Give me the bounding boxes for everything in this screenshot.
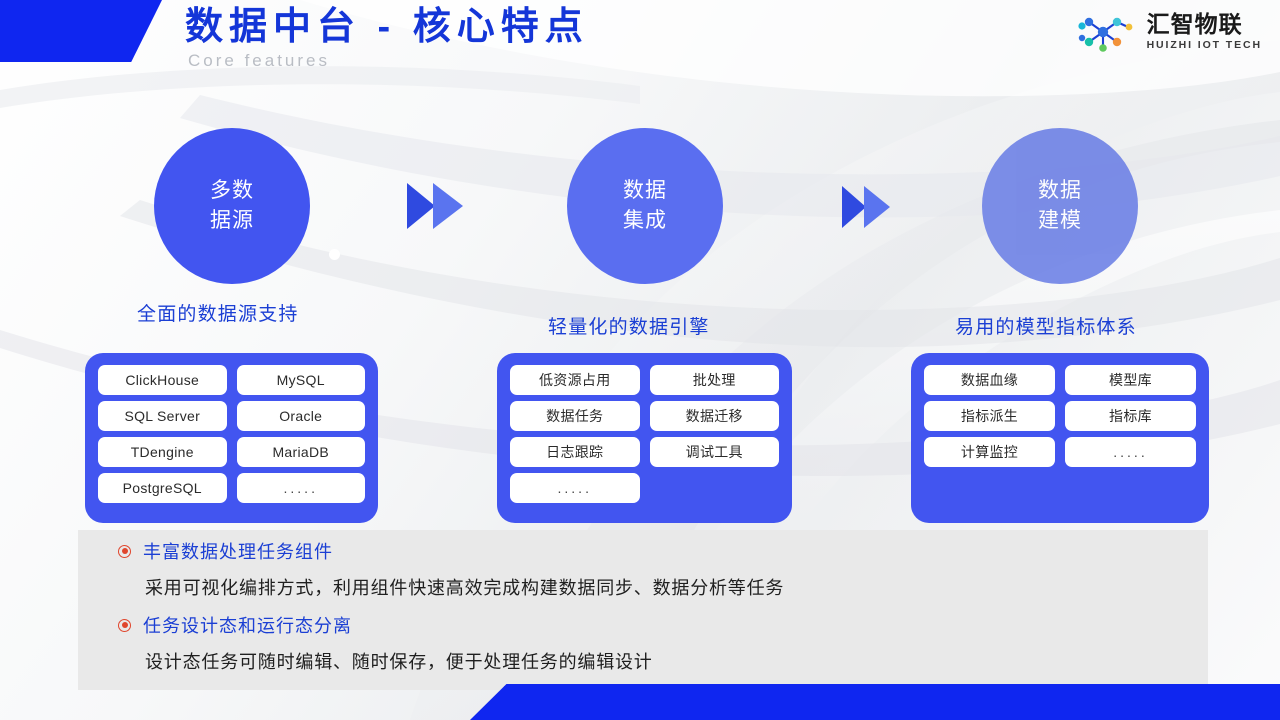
stage-circle-2-line1: 数据 [623, 176, 667, 206]
note-2-heading: 任务设计态和运行态分离 [118, 612, 653, 638]
arrow-stage2-to-stage3-icon [842, 184, 898, 230]
bullet-ring-icon [118, 619, 131, 632]
slide-root: 数据中台 - 核心特点 Core features 汇智物联 [0, 0, 1280, 720]
tag-grid-3: 数据血缘 模型库 指标派生 指标库 计算监控 ..... [924, 365, 1196, 467]
tag-item[interactable]: 数据任务 [510, 401, 640, 431]
tag-item[interactable]: 计算监控 [924, 437, 1055, 467]
tag-item[interactable]: 日志跟踪 [510, 437, 640, 467]
stage-tag-panel-2: 低资源占用 批处理 数据任务 数据迁移 日志跟踪 调试工具 ..... [497, 353, 792, 523]
tag-item[interactable]: ClickHouse [98, 365, 227, 395]
tag-placeholder [650, 473, 780, 503]
note-1-title: 丰富数据处理任务组件 [143, 538, 333, 564]
note-1-heading: 丰富数据处理任务组件 [118, 538, 784, 564]
decorative-dot [329, 249, 340, 260]
tag-item[interactable]: 模型库 [1065, 365, 1196, 395]
note-1-description: 采用可视化编排方式，利用组件快速高效完成构建数据同步、数据分析等任务 [145, 574, 784, 600]
note-item-1: 丰富数据处理任务组件 采用可视化编排方式，利用组件快速高效完成构建数据同步、数据… [118, 538, 784, 600]
stage-circle-2-line2: 集成 [623, 206, 667, 236]
note-2-title: 任务设计态和运行态分离 [143, 612, 352, 638]
note-item-2: 任务设计态和运行态分离 设计态任务可随时编辑、随时保存，便于处理任务的编辑设计 [118, 612, 653, 674]
tag-item[interactable]: 批处理 [650, 365, 780, 395]
tag-grid-2: 低资源占用 批处理 数据任务 数据迁移 日志跟踪 调试工具 ..... [510, 365, 779, 503]
tag-item[interactable]: SQL Server [98, 401, 227, 431]
stage-caption-2: 轻量化的数据引擎 [548, 312, 710, 339]
tag-item-more[interactable]: ..... [1065, 437, 1196, 467]
page-title: 数据中台 - 核心特点 [185, 6, 589, 50]
tag-item[interactable]: MySQL [237, 365, 366, 395]
tag-item[interactable]: PostgreSQL [98, 473, 227, 503]
tag-item[interactable]: 数据血缘 [924, 365, 1055, 395]
tag-item[interactable]: 调试工具 [650, 437, 780, 467]
tag-item[interactable]: Oracle [237, 401, 366, 431]
stage-circle-3[interactable]: 数据 建模 [982, 128, 1138, 284]
stage-circle-3-line1: 数据 [1038, 176, 1082, 206]
arrow-stage1-to-stage2-icon [407, 181, 471, 231]
tag-item[interactable]: 数据迁移 [650, 401, 780, 431]
stage-circle-1-line1: 多数 [210, 176, 254, 206]
stage-tag-panel-3: 数据血缘 模型库 指标派生 指标库 计算监控 ..... [911, 353, 1209, 523]
tag-item-more[interactable]: ..... [237, 473, 366, 503]
logo-name-cn: 汇智物联 [1147, 13, 1262, 36]
molecule-network-icon [1076, 10, 1140, 54]
tag-grid-1: ClickHouse MySQL SQL Server Oracle TDeng… [98, 365, 365, 503]
stage-caption-3: 易用的模型指标体系 [955, 312, 1137, 339]
tag-item-more[interactable]: ..... [510, 473, 640, 503]
footer-accent-shape [470, 684, 1280, 720]
tag-item[interactable]: 低资源占用 [510, 365, 640, 395]
notes-panel: 丰富数据处理任务组件 采用可视化编排方式，利用组件快速高效完成构建数据同步、数据… [78, 530, 1208, 690]
brand-logo: 汇智物联 HUIZHI IOT TECH [1076, 10, 1262, 54]
tag-item[interactable]: 指标库 [1065, 401, 1196, 431]
stage-circle-2[interactable]: 数据 集成 [567, 128, 723, 284]
note-2-description: 设计态任务可随时编辑、随时保存，便于处理任务的编辑设计 [145, 648, 653, 674]
bullet-ring-icon [118, 545, 131, 558]
logo-name-en: HUIZHI IOT TECH [1147, 40, 1262, 51]
tag-item[interactable]: 指标派生 [924, 401, 1055, 431]
slide-header: 数据中台 - 核心特点 Core features [185, 6, 589, 71]
page-subtitle: Core features [188, 51, 589, 71]
stage-circle-3-line2: 建模 [1038, 206, 1082, 236]
stage-circle-1[interactable]: 多数 据源 [154, 128, 310, 284]
stage-tag-panel-1: ClickHouse MySQL SQL Server Oracle TDeng… [85, 353, 378, 523]
tag-item[interactable]: TDengine [98, 437, 227, 467]
stage-circle-1-line2: 据源 [210, 206, 254, 236]
tag-item[interactable]: MariaDB [237, 437, 366, 467]
stage-caption-1: 全面的数据源支持 [137, 299, 299, 326]
logo-text-block: 汇智物联 HUIZHI IOT TECH [1147, 13, 1262, 51]
